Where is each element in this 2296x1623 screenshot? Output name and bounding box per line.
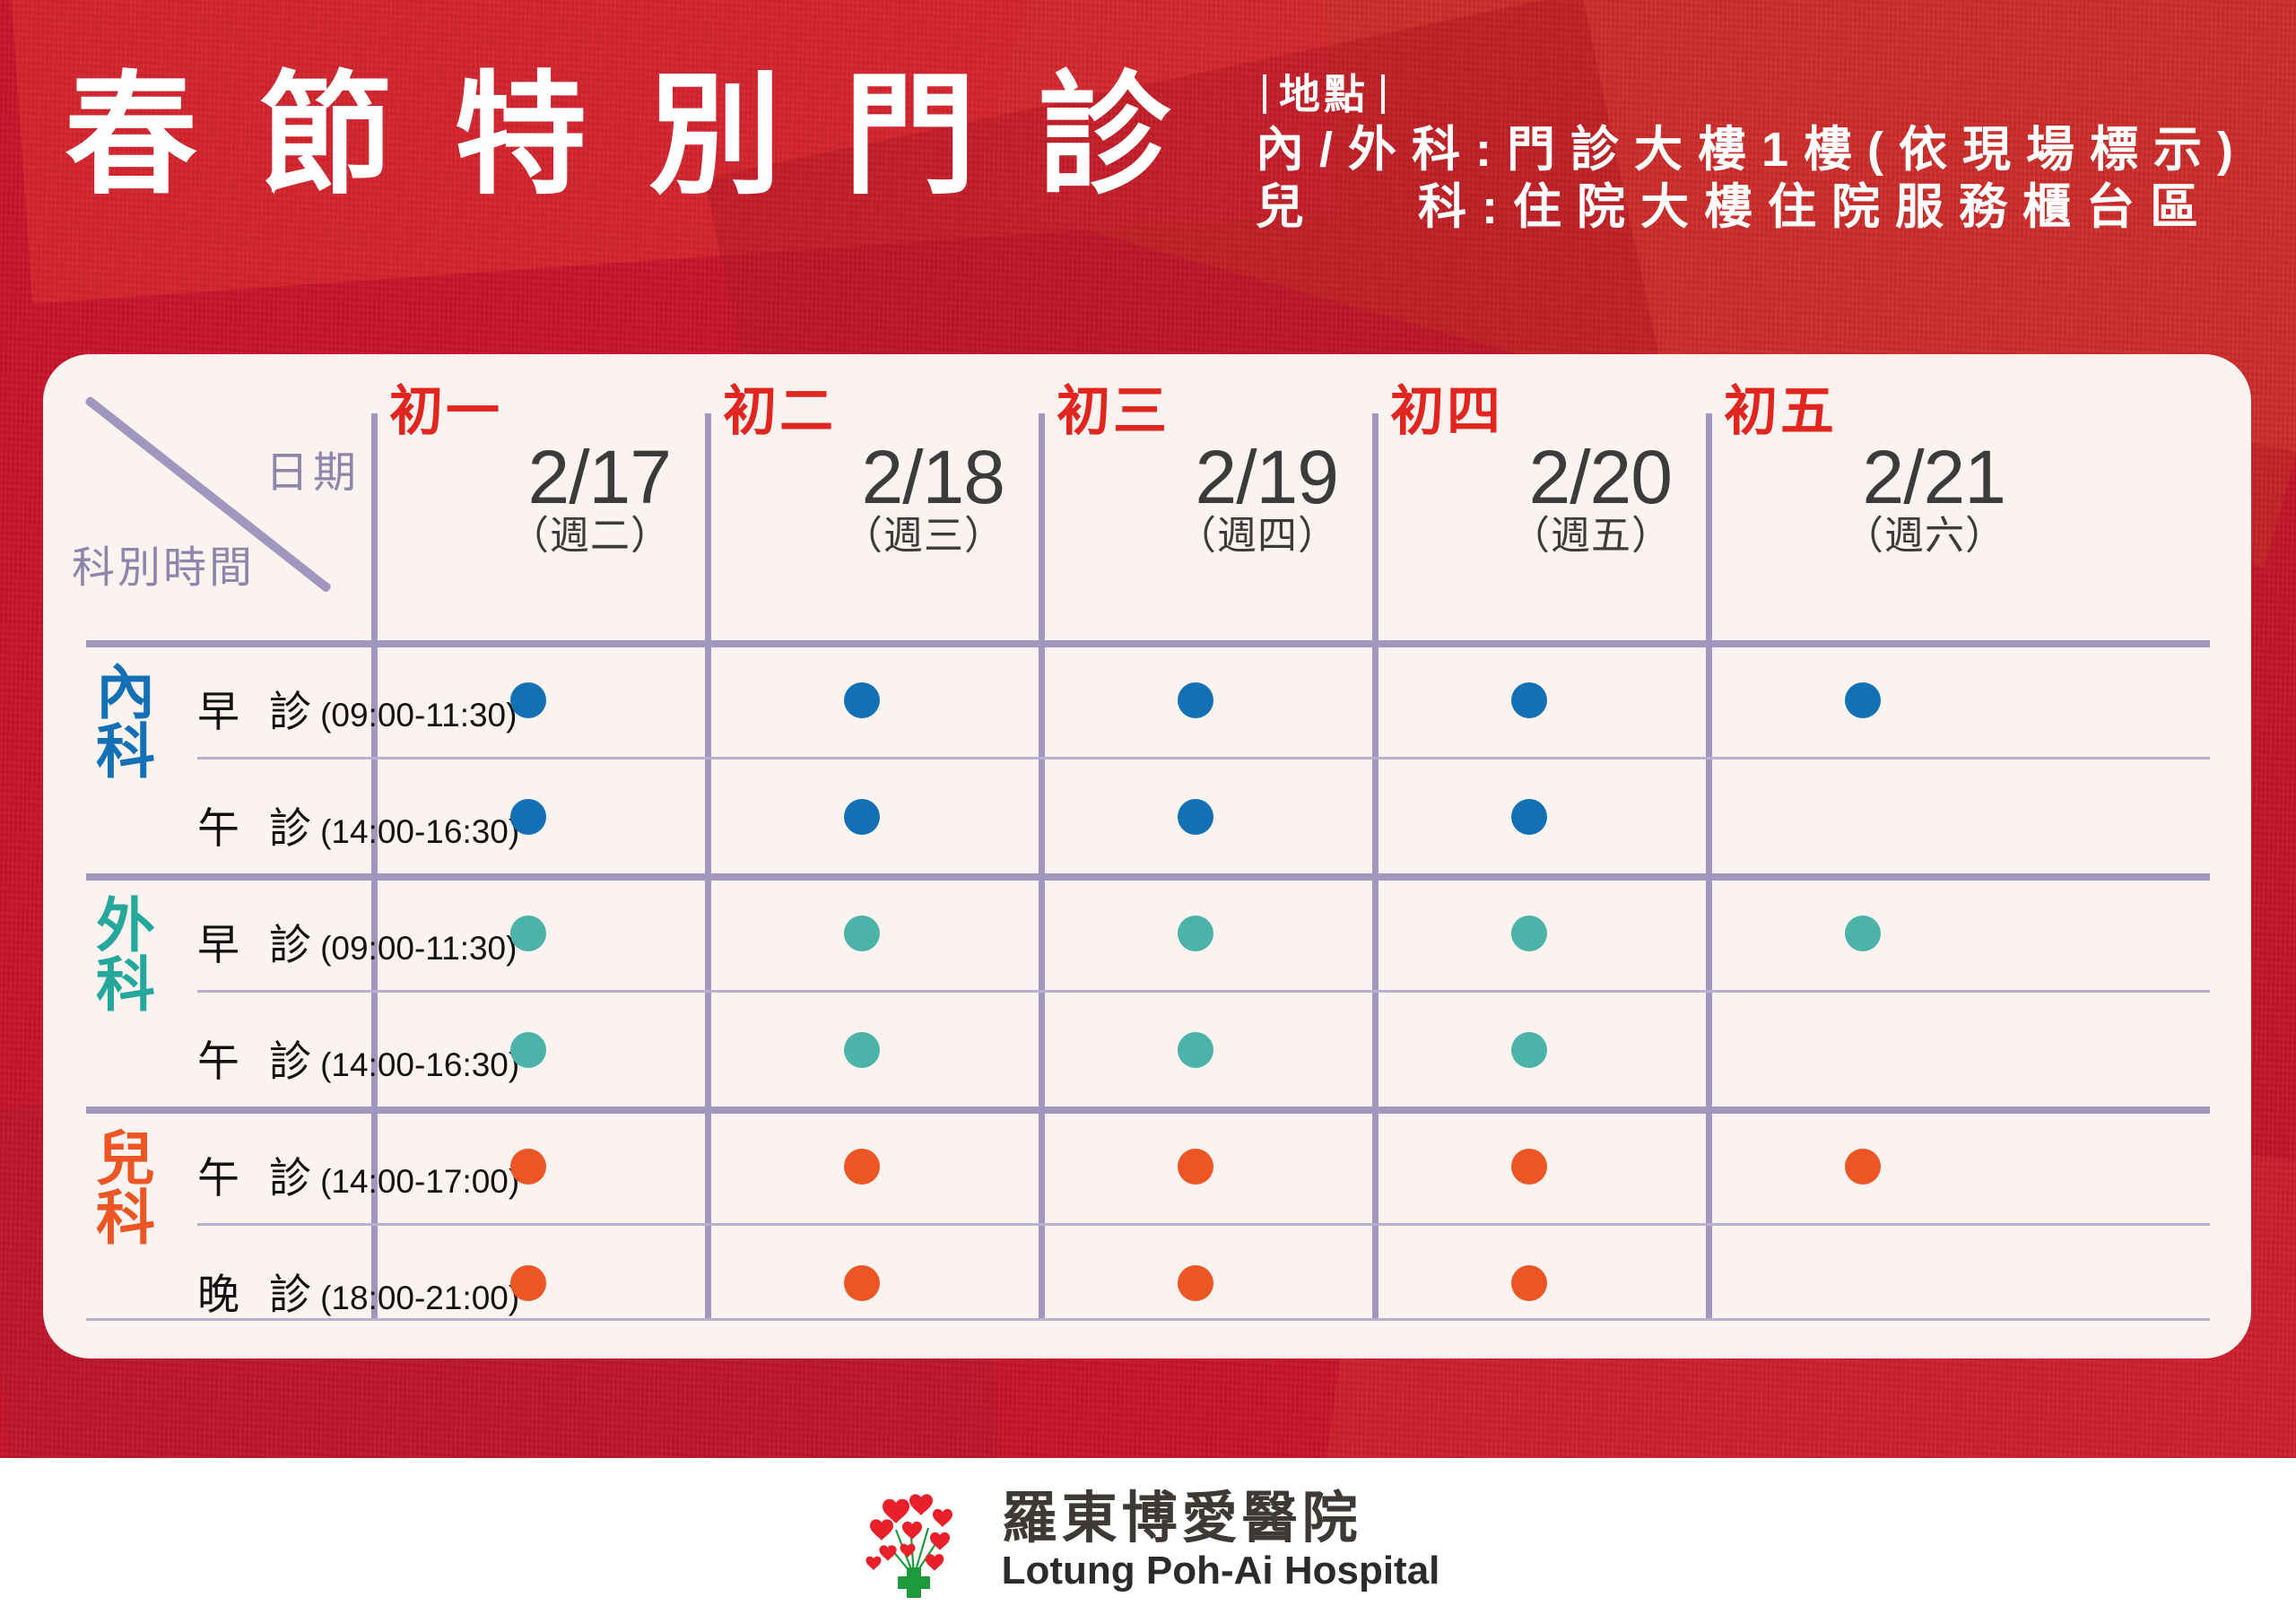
dot-pediatrics-afternoon-4: [1845, 1149, 1881, 1185]
date-number-4: 2/21: [1724, 439, 2005, 515]
rule-header-bottom: [86, 640, 2210, 647]
dept-label-surgery-char-0: 外: [75, 896, 176, 955]
session-surgery-afternoon-time: (14:00-16:30): [320, 1046, 519, 1083]
dot-internal-afternoon-2: [1178, 799, 1213, 835]
dot-pediatrics-evening-2: [1178, 1265, 1213, 1301]
dot-pediatrics-afternoon-1: [844, 1149, 880, 1185]
date-header-col-1: 初二 2/18 （週三）: [709, 383, 1022, 634]
session-surgery-morning-time: (09:00-11:30): [320, 930, 517, 967]
session-pediatrics-evening: 晚 診(18:00-21:00): [197, 1260, 628, 1322]
dot-internal-afternoon-0: [510, 799, 546, 835]
corner-dept-label: 科別時間: [72, 532, 255, 595]
session-internal-afternoon-time: (14:00-16:30): [320, 813, 519, 850]
dot-internal-morning-1: [844, 682, 880, 718]
dept-label-surgery-char-1: 科: [75, 955, 176, 1014]
venue-line-pediatrics: 兒 科 : 住 院 大 樓 住 院 服 務 櫃 台 區: [1256, 179, 2234, 237]
date-number-3: 2/20: [1390, 439, 1672, 515]
dot-surgery-morning-3: [1511, 916, 1547, 951]
venue-heading: 地點: [1279, 74, 1369, 115]
date-weekday-4: （週六）: [1724, 515, 2005, 558]
dot-internal-afternoon-1: [844, 799, 880, 835]
dept-label-pediatrics: 兒 科: [75, 1129, 176, 1247]
venue-line-internal-surgery: 內 / 外 科 : 門 診 大 樓 1 樓 ( 依 現 場 標 示 ): [1256, 122, 2234, 179]
date-header-col-4: 初五 2/21 （週六）: [1709, 383, 2023, 634]
date-lunar-1: 初二: [723, 383, 1004, 439]
venue-heading-row: 地點: [1263, 74, 2234, 115]
column-divider-2: [1039, 413, 1045, 1321]
dot-pediatrics-afternoon-0: [510, 1149, 546, 1185]
dot-internal-afternoon-3: [1511, 799, 1547, 835]
session-internal-morning-time: (09:00-11:30): [320, 697, 517, 733]
date-weekday-0: （週二）: [389, 515, 671, 558]
date-weekday-1: （週三）: [723, 515, 1004, 558]
dot-pediatrics-afternoon-2: [1178, 1149, 1213, 1185]
session-pediatrics-afternoon: 午 診(14:00-17:00): [197, 1143, 628, 1205]
session-pediatrics-afternoon-name: 午 診: [197, 1154, 320, 1202]
date-lunar-0: 初一: [389, 383, 671, 439]
schedule-table: 日期 科別時間 初一 2/17 （週二） 初二 2/18 （週三） 初三 2/1…: [63, 374, 2231, 1339]
venue-divider-right-icon: [1381, 74, 1385, 114]
dot-surgery-morning-1: [844, 916, 880, 951]
column-divider-1: [705, 413, 711, 1321]
hospital-logo-icon: [857, 1483, 971, 1598]
venue-divider-left-icon: [1263, 74, 1266, 114]
dept-label-internal-char-0: 內: [75, 663, 176, 722]
date-weekday-3: （週五）: [1390, 515, 1672, 558]
hospital-name-block: 羅東博愛醫院 Lotung Poh-Ai Hospital: [1002, 1489, 1440, 1592]
rule-internal-bottom: [86, 873, 2210, 881]
session-surgery-morning-name: 早 診: [197, 921, 320, 968]
dot-internal-morning-3: [1511, 682, 1547, 718]
schedule-card: 日期 科別時間 初一 2/17 （週二） 初二 2/18 （週三） 初三 2/1…: [43, 354, 2251, 1358]
session-surgery-morning: 早 診(09:00-11:30): [197, 910, 628, 972]
rule-surgery-bottom: [86, 1107, 2210, 1114]
date-weekday-2: （週四）: [1057, 515, 1338, 558]
session-internal-morning-name: 早 診: [197, 688, 320, 735]
dot-surgery-afternoon-3: [1511, 1032, 1547, 1068]
dot-internal-morning-0: [510, 682, 546, 718]
column-divider-4: [1706, 413, 1712, 1321]
date-header-col-2: 初三 2/19 （週四）: [1042, 383, 1356, 634]
footer: 羅東博愛醫院 Lotung Poh-Ai Hospital: [0, 1458, 2296, 1623]
dot-pediatrics-evening-1: [844, 1265, 880, 1301]
dept-label-surgery: 外 科: [75, 896, 176, 1014]
session-pediatrics-evening-name: 晚 診: [197, 1271, 320, 1318]
date-lunar-2: 初三: [1057, 383, 1338, 439]
dot-surgery-afternoon-0: [510, 1032, 546, 1068]
dot-surgery-afternoon-2: [1178, 1032, 1213, 1068]
date-lunar-3: 初四: [1390, 383, 1672, 439]
session-internal-morning: 早 診(09:00-11:30): [197, 677, 628, 739]
dept-label-pediatrics-char-0: 兒: [75, 1129, 176, 1188]
column-divider-3: [1372, 413, 1378, 1321]
rule-surgery-inner: [197, 990, 2210, 993]
date-number-2: 2/19: [1057, 439, 1338, 515]
dot-internal-morning-2: [1178, 682, 1213, 718]
rule-pediatric-inner: [197, 1223, 2210, 1226]
dept-label-pediatrics-char-1: 科: [75, 1188, 176, 1247]
rule-internal-inner: [197, 757, 2210, 759]
venue-info: 地點 內 / 外 科 : 門 診 大 樓 1 樓 ( 依 現 場 標 示 ) 兒…: [1256, 74, 2234, 236]
session-surgery-afternoon: 午 診(14:00-16:30): [197, 1027, 628, 1089]
dot-surgery-morning-4: [1845, 916, 1881, 951]
poster-header: 春 節 特 別 門 診 地點 內 / 外 科 : 門 診 大 樓 1 樓 ( 依…: [0, 0, 2296, 350]
date-number-0: 2/17: [389, 439, 671, 515]
dot-surgery-morning-2: [1178, 916, 1213, 951]
hospital-name-zh: 羅東博愛醫院: [1002, 1489, 1440, 1549]
date-lunar-4: 初五: [1724, 383, 2005, 439]
dot-pediatrics-evening-3: [1511, 1265, 1547, 1301]
session-internal-afternoon-name: 午 診: [197, 804, 320, 852]
dot-internal-morning-4: [1845, 682, 1881, 718]
table-corner-cell: 日期 科別時間: [63, 374, 375, 640]
dept-label-internal-char-1: 科: [75, 722, 176, 781]
session-pediatrics-afternoon-time: (14:00-17:00): [320, 1163, 519, 1200]
session-pediatrics-evening-time: (18:00-21:00): [320, 1280, 519, 1316]
dot-pediatrics-evening-0: [510, 1265, 546, 1301]
hospital-name-en: Lotung Poh-Ai Hospital: [1002, 1549, 1440, 1593]
date-header-col-0: 初一 2/17 （週二）: [375, 383, 689, 634]
dot-surgery-morning-0: [510, 916, 546, 951]
dot-surgery-afternoon-1: [844, 1032, 880, 1068]
session-surgery-afternoon-name: 午 診: [197, 1037, 320, 1085]
dept-label-internal: 內 科: [75, 663, 176, 781]
session-internal-afternoon: 午 診(14:00-16:30): [197, 794, 628, 855]
dot-pediatrics-afternoon-3: [1511, 1149, 1547, 1185]
date-number-1: 2/18: [723, 439, 1004, 515]
page-title: 春 節 特 別 門 診: [65, 70, 1184, 203]
date-header-col-3: 初四 2/20 （週五）: [1376, 383, 1690, 634]
corner-date-label: 日期: [265, 437, 361, 499]
